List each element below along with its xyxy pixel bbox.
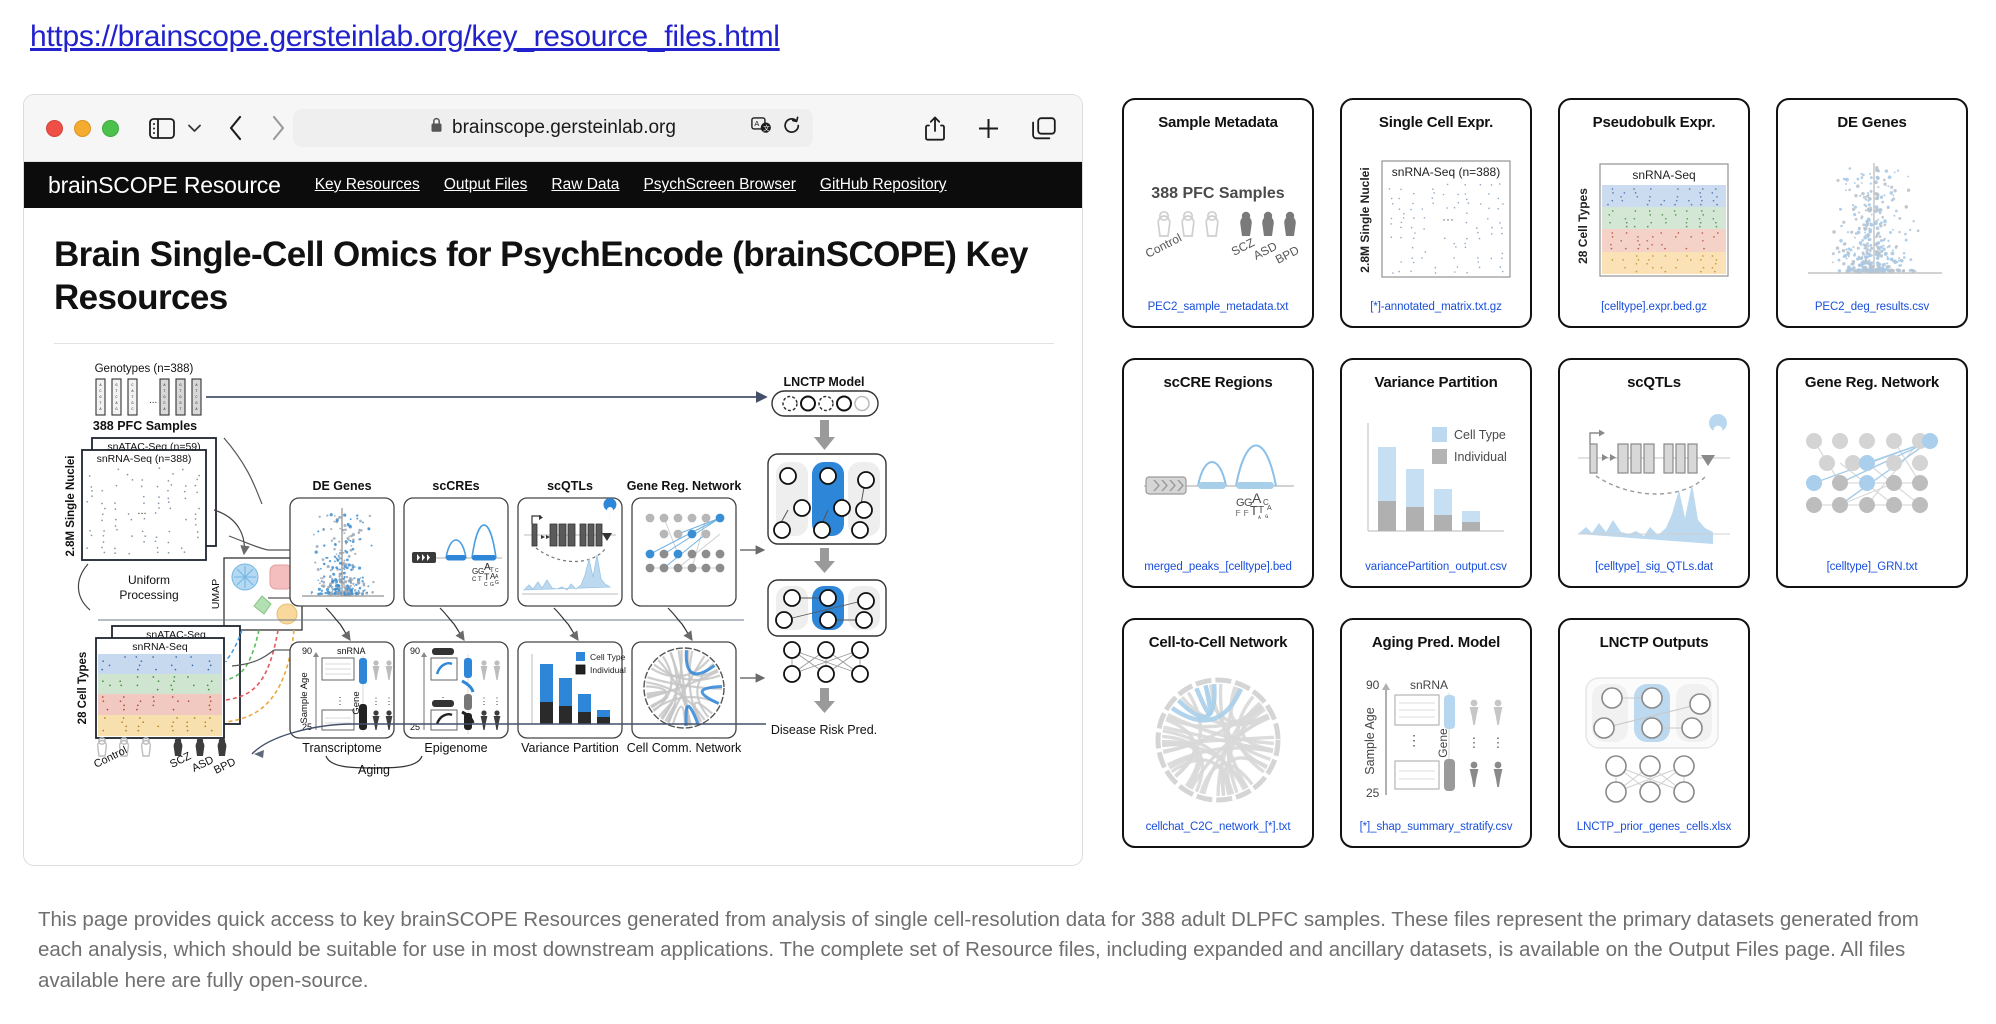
svg-text:Individual: Individual xyxy=(590,665,626,675)
site-navbar: brainSCOPE Resource Key Resources Output… xyxy=(24,162,1082,208)
card-title: Sample Metadata xyxy=(1158,114,1278,131)
card-file-link[interactable]: PEC2_deg_results.csv xyxy=(1778,301,1966,313)
card-file-link[interactable]: merged_peaks_[celltype].bed xyxy=(1124,561,1312,573)
card-file-link[interactable]: variancePartition_output.csv xyxy=(1342,561,1530,573)
card-file-link[interactable]: [celltype]_sig_QTLs.dat xyxy=(1560,561,1748,573)
svg-text:ᖴ: ᖴ xyxy=(1244,509,1249,518)
svg-text:388 PFC Samples: 388 PFC Samples xyxy=(93,419,197,433)
card-file-link[interactable]: [*]_shap_summary_stratify.csv xyxy=(1342,821,1530,833)
card-title: DE Genes xyxy=(1837,114,1906,131)
legend-label-cell-type: Cell Type xyxy=(1454,428,1506,442)
close-window-button[interactable] xyxy=(46,120,63,137)
card-art-chord xyxy=(1124,651,1312,846)
svg-text:28 Cell Types: 28 Cell Types xyxy=(1576,187,1590,263)
aging-axis-label: Sample Age xyxy=(1363,707,1377,774)
svg-text:文: 文 xyxy=(763,123,770,132)
resource-card-lnctp-outputs[interactable]: LNCTP Outputs xyxy=(1558,618,1750,848)
svg-text:UMAP: UMAP xyxy=(210,579,222,609)
card-title: Gene Reg. Network xyxy=(1805,374,1939,391)
svg-text:snRNA-Seq (n=388): snRNA-Seq (n=388) xyxy=(1392,165,1500,179)
svg-text:Epigenome: Epigenome xyxy=(424,741,487,755)
svg-text:Disease Risk Pred.: Disease Risk Pred. xyxy=(771,723,877,737)
svg-text:G: G xyxy=(195,402,197,406)
share-icon[interactable] xyxy=(925,116,945,141)
svg-text:C: C xyxy=(472,577,477,583)
svg-text:⋮: ⋮ xyxy=(1407,732,1421,748)
nav-item-github[interactable]: GitHub Repository xyxy=(820,176,947,194)
svg-text:90: 90 xyxy=(410,646,420,656)
aging-gene-label: Gene xyxy=(1436,728,1450,758)
card-art-matrix-mono: 2.8M Single Nuclei snRNA-Seq (n=388) ··· xyxy=(1342,131,1530,326)
nav-item-psychscreen[interactable]: PsychScreen Browser xyxy=(643,176,795,194)
svg-text:snRNA-Seq (n=388): snRNA-Seq (n=388) xyxy=(97,453,192,465)
card-art-aging: 90 Sample Age 25 snRNA ⋮ Gene ⋮ xyxy=(1342,651,1530,846)
forward-arrow-icon[interactable] xyxy=(270,115,286,141)
aging-axis-min: 25 xyxy=(1366,786,1380,800)
tab-overview-icon[interactable] xyxy=(1032,117,1056,140)
svg-text:DE Genes: DE Genes xyxy=(312,479,371,493)
svg-text:A: A xyxy=(1267,505,1272,512)
svg-text:Genotypes (n=388): Genotypes (n=388) xyxy=(95,363,194,375)
resource-card-scqtls[interactable]: scQTLs [celltype]_sig_QTLs.dat xyxy=(1558,358,1750,588)
svg-text:388 PFC Samples: 388 PFC Samples xyxy=(1151,185,1285,202)
svg-text:Transcriptome: Transcriptome xyxy=(302,741,381,755)
resource-card-grid: Sample Metadata 388 PFC Samples Control … xyxy=(1122,98,1974,868)
card-title: Variance Partition xyxy=(1374,374,1497,391)
card-file-link[interactable]: [*]-annotated_matrix.txt.gz xyxy=(1342,301,1530,313)
resource-card-cell-to-cell-network[interactable]: Cell-to-Cell Network cellchat_C2C_networ… xyxy=(1122,618,1314,848)
card-title: Pseudobulk Expr. xyxy=(1593,114,1716,131)
resource-card-de-genes[interactable]: DE Genes PEC2_deg_results.csv xyxy=(1776,98,1968,328)
workflow-diagram: Genotypes (n=388) ... ACGTA GTCAG CATGC … xyxy=(54,358,1054,778)
svg-text:G: G xyxy=(179,396,181,400)
lock-icon xyxy=(430,117,443,139)
back-arrow-icon[interactable] xyxy=(228,115,244,141)
svg-text:G: G xyxy=(115,384,117,388)
address-bar[interactable]: brainscope.gersteinlab.org A文 xyxy=(293,109,813,147)
svg-text:ɢ: ɢ xyxy=(1265,514,1268,520)
svg-text:T: T xyxy=(478,577,482,583)
svg-text:T: T xyxy=(1250,503,1258,518)
svg-text:Control: Control xyxy=(1143,230,1184,260)
card-title: scCRE Regions xyxy=(1163,374,1272,391)
resource-card-single-cell-expr[interactable]: Single Cell Expr. 2.8M Single Nuclei snR… xyxy=(1340,98,1532,328)
resource-card-aging-pred-model[interactable]: Aging Pred. Model 90 Sample Age 25 snRNA… xyxy=(1340,618,1532,848)
card-art-lnctp xyxy=(1560,651,1748,846)
svg-text:C: C xyxy=(131,408,133,412)
card-art-samples: 388 PFC Samples Control SCZ ASD BPD xyxy=(1124,131,1312,326)
svg-text:snRNA-Seq: snRNA-Seq xyxy=(132,641,188,653)
svg-text:C: C xyxy=(115,396,117,400)
svg-text:scQTLs: scQTLs xyxy=(547,479,593,493)
svg-text:...: ... xyxy=(137,505,146,517)
card-title: LNCTP Outputs xyxy=(1600,634,1709,651)
svg-text:⋮: ⋮ xyxy=(372,696,381,706)
svg-text:G: G xyxy=(490,582,494,588)
aging-axis-max: 90 xyxy=(1366,678,1380,692)
translate-icon[interactable]: A文 xyxy=(751,117,772,140)
card-file-link[interactable]: [celltype].expr.bed.gz xyxy=(1560,301,1748,313)
svg-text:⋮: ⋮ xyxy=(480,696,489,706)
svg-text:G: G xyxy=(115,408,117,412)
site-brand[interactable]: brainSCOPE Resource xyxy=(24,172,303,199)
address-text: brainscope.gersteinlab.org xyxy=(452,117,676,139)
svg-text:90: 90 xyxy=(302,646,312,656)
nav-item-output-files[interactable]: Output Files xyxy=(444,176,528,194)
card-art-qtl xyxy=(1560,391,1748,586)
resource-card-pseudobulk-expr[interactable]: Pseudobulk Expr. 28 Cell Types snRNA-Seq… xyxy=(1558,98,1750,328)
svg-text:scCREs: scCREs xyxy=(432,479,479,493)
svg-text:snRNA: snRNA xyxy=(337,646,366,656)
svg-text:Sample Age: Sample Age xyxy=(299,673,310,724)
card-file-link[interactable]: PEC2_sample_metadata.txt xyxy=(1124,301,1312,313)
svg-text:LNCTP Model: LNCTP Model xyxy=(783,375,864,389)
svg-text:2.8M Single Nuclei: 2.8M Single Nuclei xyxy=(1358,167,1372,272)
svg-text:Variance Partition: Variance Partition xyxy=(521,741,619,755)
variance-partition-chart: Cell Type Individual xyxy=(1354,417,1518,543)
svg-text:···: ··· xyxy=(1442,212,1454,226)
chevron-down-icon[interactable] xyxy=(187,123,202,133)
svg-text:ASD: ASD xyxy=(190,754,216,775)
svg-text:G: G xyxy=(131,402,133,406)
svg-text:SCZ: SCZ xyxy=(168,751,193,772)
minimize-window-button[interactable] xyxy=(74,120,91,137)
resource-card-gene-reg-network[interactable]: Gene Reg. Network xyxy=(1776,358,1968,588)
svg-text:Processing: Processing xyxy=(119,588,178,602)
browser-toolbar: brainscope.gersteinlab.org A文 xyxy=(24,95,1082,162)
card-art-volcano xyxy=(1778,131,1966,326)
plus-icon[interactable] xyxy=(977,117,1000,140)
legend-label-individual: Individual xyxy=(1454,450,1507,464)
page-description: This page provides quick access to key b… xyxy=(38,905,1958,996)
toolbar-right-actions xyxy=(925,116,1056,141)
card-art-barchart: Cell Type Individual xyxy=(1342,391,1530,586)
card-art-peaks: GG AC ᖴᖴ TTA ᴀɢ xyxy=(1124,391,1312,586)
traffic-lights[interactable] xyxy=(46,120,119,137)
resource-card-sample-metadata[interactable]: Sample Metadata 388 PFC Samples Control … xyxy=(1122,98,1314,328)
svg-text:Gene: Gene xyxy=(351,692,362,715)
page-url-link[interactable]: https://brainscope.gersteinlab.org/key_r… xyxy=(30,20,780,54)
svg-text:G: G xyxy=(179,402,181,406)
card-file-link[interactable]: cellchat_C2C_network_[*].txt xyxy=(1124,821,1312,833)
nav-item-key-resources[interactable]: Key Resources xyxy=(315,176,420,194)
nav-item-raw-data[interactable]: Raw Data xyxy=(551,176,619,194)
svg-text:BPD: BPD xyxy=(212,756,238,777)
title-divider xyxy=(54,343,1054,344)
page-title: Brain Single-Cell Omics for PsychEncode … xyxy=(54,234,1052,319)
card-title: Cell-to-Cell Network xyxy=(1149,634,1288,651)
svg-text:Cell Type: Cell Type xyxy=(590,652,626,662)
card-art-matrix-color: 28 Cell Types snRNA-Seq xyxy=(1560,131,1748,326)
svg-text:ᴀ: ᴀ xyxy=(1258,515,1261,521)
reload-icon[interactable] xyxy=(783,116,801,141)
resource-card-sccre-regions[interactable]: scCRE Regions GG AC ᖴᖴ TTA ᴀɢ xyxy=(1122,358,1314,588)
svg-text:C: C xyxy=(484,582,488,588)
svg-text:Aging: Aging xyxy=(358,763,390,777)
page-body: Brain Single-Cell Omics for PsychEncode … xyxy=(24,208,1082,778)
svg-text:C: C xyxy=(195,396,197,400)
site-nav-links: Key Resources Output Files Raw Data Psyc… xyxy=(315,176,971,194)
zoom-window-button[interactable] xyxy=(102,120,119,137)
card-art-grn xyxy=(1778,391,1966,586)
sidebar-icon[interactable] xyxy=(149,118,175,139)
svg-text:2.8M Single Nuclei: 2.8M Single Nuclei xyxy=(65,456,77,557)
browser-window: brainscope.gersteinlab.org A文 xyxy=(24,95,1082,865)
svg-text:⋮: ⋮ xyxy=(1492,735,1505,750)
svg-text:⋮: ⋮ xyxy=(493,696,502,706)
svg-text:A: A xyxy=(754,118,759,127)
svg-text:snRNA-Seq: snRNA-Seq xyxy=(1632,168,1695,182)
svg-text:⋮: ⋮ xyxy=(385,696,394,706)
svg-text:Gene Reg. Network: Gene Reg. Network xyxy=(627,479,742,493)
svg-text:Cell Comm. Network: Cell Comm. Network xyxy=(627,741,742,755)
svg-text:Uniform: Uniform xyxy=(128,573,170,587)
svg-text:G: G xyxy=(99,396,101,400)
svg-text:ᖴ: ᖴ xyxy=(1236,509,1241,518)
svg-text:C: C xyxy=(163,402,165,406)
aging-header: snRNA xyxy=(1410,678,1448,692)
svg-text:⋮: ⋮ xyxy=(1468,735,1481,750)
card-title: Single Cell Expr. xyxy=(1379,114,1493,131)
svg-text:G: G xyxy=(179,384,181,388)
workflow-svg: Genotypes (n=388) ... ACGTA GTCAG CATGC … xyxy=(54,358,1054,778)
svg-text:⋮: ⋮ xyxy=(335,696,345,707)
svg-text:...: ... xyxy=(149,395,157,406)
card-file-link[interactable]: [celltype]_GRN.txt xyxy=(1778,561,1966,573)
svg-text:BPD: BPD xyxy=(1273,242,1302,266)
svg-text:G: G xyxy=(495,580,499,586)
svg-text:C: C xyxy=(99,390,101,394)
svg-text:G: G xyxy=(163,396,165,400)
card-title: Aging Pred. Model xyxy=(1372,634,1500,651)
svg-text:28 Cell Types: 28 Cell Types xyxy=(77,652,89,725)
card-title: scQTLs xyxy=(1627,374,1681,391)
svg-text:C: C xyxy=(131,384,133,388)
card-file-link[interactable]: LNCTP_prior_genes_cells.xlsx xyxy=(1560,821,1748,833)
resource-card-variance-partition[interactable]: Variance Partition Cell Type Individual … xyxy=(1340,358,1532,588)
